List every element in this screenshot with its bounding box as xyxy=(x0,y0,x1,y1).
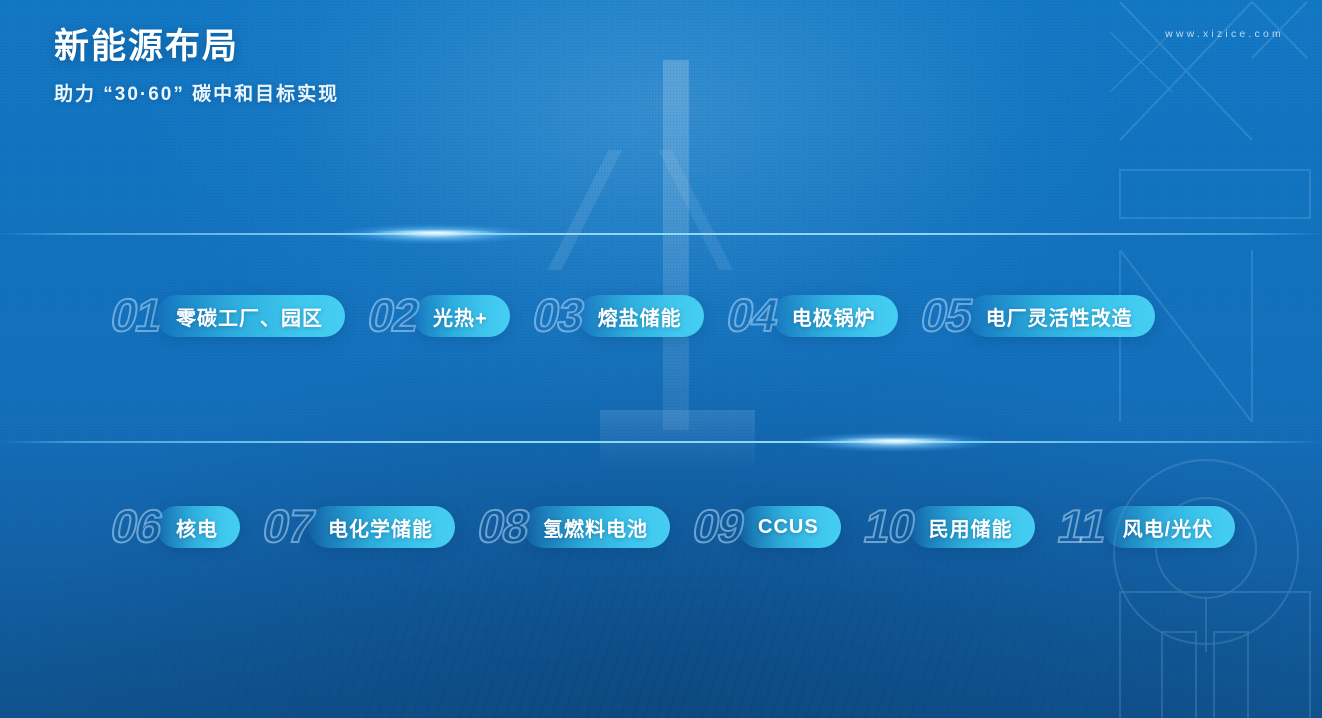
category-pill-label: 电极锅炉 xyxy=(792,302,876,331)
category-pill[interactable]: 核电 xyxy=(156,506,240,548)
category-pill[interactable]: 民用储能 xyxy=(909,506,1035,548)
category-row-top: 01零碳工厂、园区02光热+03熔盐储能04电极锅炉05电厂灵活性改造 xyxy=(0,281,1322,351)
category-item[interactable]: 05电厂灵活性改造 xyxy=(922,281,1155,351)
category-item[interactable]: 01零碳工厂、园区 xyxy=(112,281,345,351)
category-item[interactable]: 07电化学储能 xyxy=(264,492,455,562)
category-item[interactable]: 09CCUS xyxy=(694,492,841,562)
category-item[interactable]: 10民用储能 xyxy=(865,492,1035,562)
divider-glow-core xyxy=(830,438,960,443)
category-pill-label: 电厂灵活性改造 xyxy=(986,302,1133,331)
category-item[interactable]: 06核电 xyxy=(112,492,240,562)
watermark-letters-decor xyxy=(1102,0,1322,718)
divider-line-top xyxy=(0,233,1322,235)
halftone-dot-overlay xyxy=(0,0,1322,718)
category-pill-label: 核电 xyxy=(176,513,218,542)
divider-glow-core xyxy=(370,230,500,235)
category-pill-label: 民用储能 xyxy=(929,513,1013,542)
category-pill[interactable]: 熔盐储能 xyxy=(578,295,704,337)
category-item[interactable]: 02光热+ xyxy=(369,281,510,351)
solar-tower-base-shape xyxy=(600,410,755,470)
category-pill[interactable]: 零碳工厂、园区 xyxy=(156,295,345,337)
category-pill-label: 熔盐储能 xyxy=(598,302,682,331)
category-pill[interactable]: 电化学储能 xyxy=(308,506,455,548)
category-item[interactable]: 11风电/光伏 xyxy=(1059,492,1236,562)
solar-panel-field-texture xyxy=(0,418,1322,718)
page-subtitle: 助力 “30·60” 碳中和目标实现 xyxy=(54,79,339,106)
category-pill-label: 零碳工厂、园区 xyxy=(176,302,323,331)
divider-line-bottom xyxy=(0,441,1322,443)
category-row-bottom: 06核电07电化学储能08氢燃料电池09CCUS10民用储能11风电/光伏 xyxy=(0,492,1322,562)
category-pill[interactable]: 光热+ xyxy=(413,295,510,337)
slide-canvas: 新能源布局 助力 “30·60” 碳中和目标实现 www.xizice.com … xyxy=(0,0,1322,718)
category-pill-label: 电化学储能 xyxy=(328,513,433,542)
header-block: 新能源布局 助力 “30·60” 碳中和目标实现 xyxy=(54,26,339,106)
category-pill[interactable]: CCUS xyxy=(738,506,841,548)
category-pill-label: 氢燃料电池 xyxy=(543,513,648,542)
category-item[interactable]: 03熔盐储能 xyxy=(534,281,704,351)
mountain-ridge-layer xyxy=(0,150,1322,270)
category-pill[interactable]: 风电/光伏 xyxy=(1103,506,1236,548)
power-plant-layer xyxy=(0,418,1322,718)
category-pill[interactable]: 电厂灵活性改造 xyxy=(966,295,1155,337)
divider-line-stroke xyxy=(0,233,1322,235)
category-item[interactable]: 04电极锅炉 xyxy=(728,281,898,351)
site-url-label: www.xizice.com xyxy=(1165,28,1284,40)
category-pill-label: 风电/光伏 xyxy=(1123,513,1214,542)
category-pill[interactable]: 氢燃料电池 xyxy=(523,506,670,548)
page-title: 新能源布局 xyxy=(54,26,339,67)
category-pill-label: 光热+ xyxy=(433,302,488,331)
solar-tower-shape xyxy=(663,60,689,430)
divider-line-stroke xyxy=(0,441,1322,443)
category-item[interactable]: 08氢燃料电池 xyxy=(479,492,670,562)
category-pill[interactable]: 电极锅炉 xyxy=(772,295,898,337)
category-pill-label: CCUS xyxy=(758,516,819,539)
